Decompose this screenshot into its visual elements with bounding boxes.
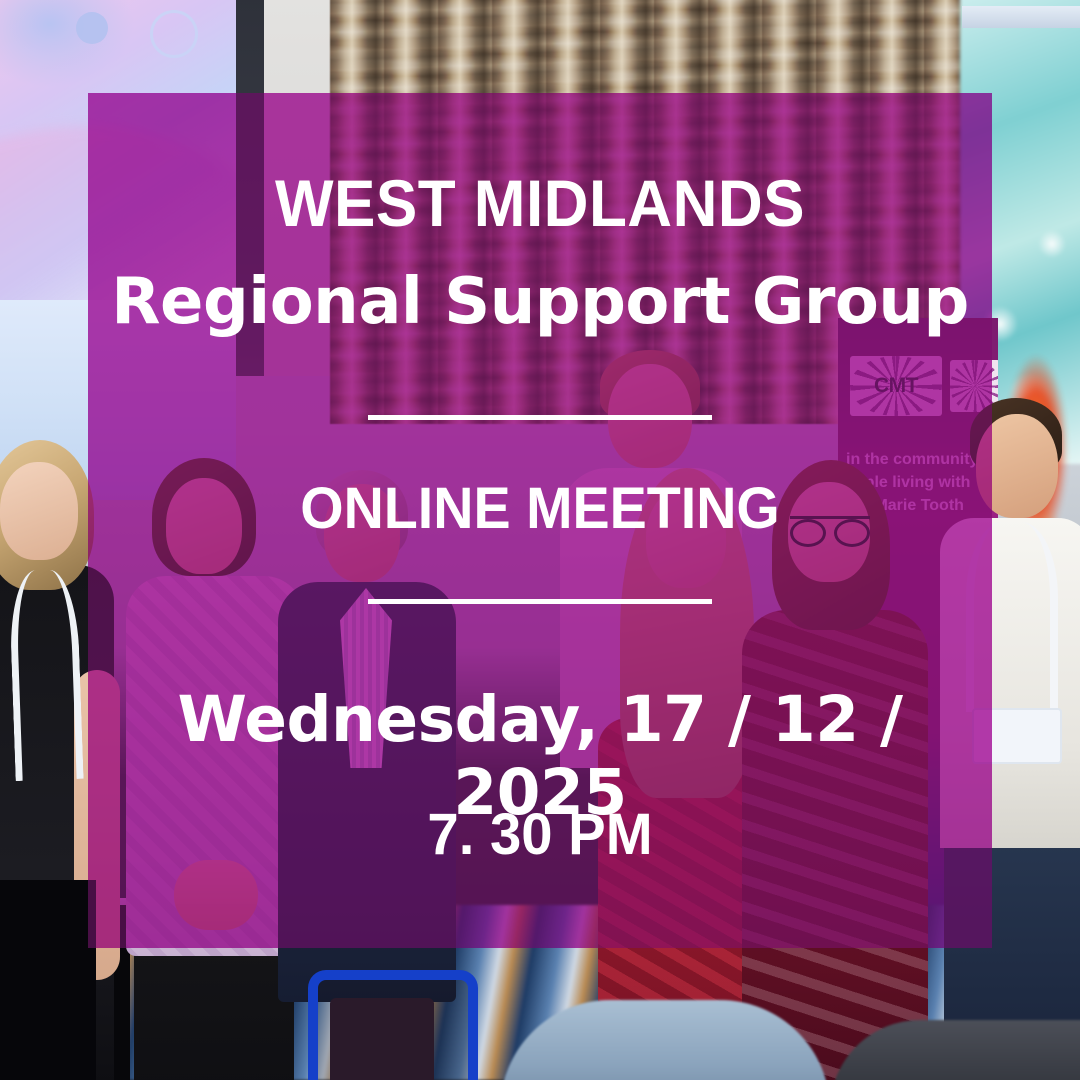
meeting-type-label: ONLINE MEETING	[106, 475, 974, 542]
divider-rule-top	[368, 415, 712, 420]
poster-canvas: CMT in the community eople living with c…	[0, 0, 1080, 1080]
divider-rule-bottom	[368, 599, 712, 604]
p2-skirt	[134, 944, 294, 1080]
window-header-bar	[962, 6, 1080, 28]
headline-region-name: WEST MIDLANDS	[115, 165, 965, 241]
screen-graphic-dot	[76, 12, 108, 44]
meeting-time: 7. 30 PM	[102, 801, 979, 868]
p3-walker-bag	[330, 998, 434, 1080]
foreground-dark-edge	[0, 880, 96, 1080]
poster-text-block: WEST MIDLANDS Regional Support Group ONL…	[88, 93, 992, 948]
p1-head	[0, 462, 78, 560]
headline-group-name: Regional Support Group	[88, 265, 992, 339]
screen-graphic-ring	[150, 10, 198, 58]
